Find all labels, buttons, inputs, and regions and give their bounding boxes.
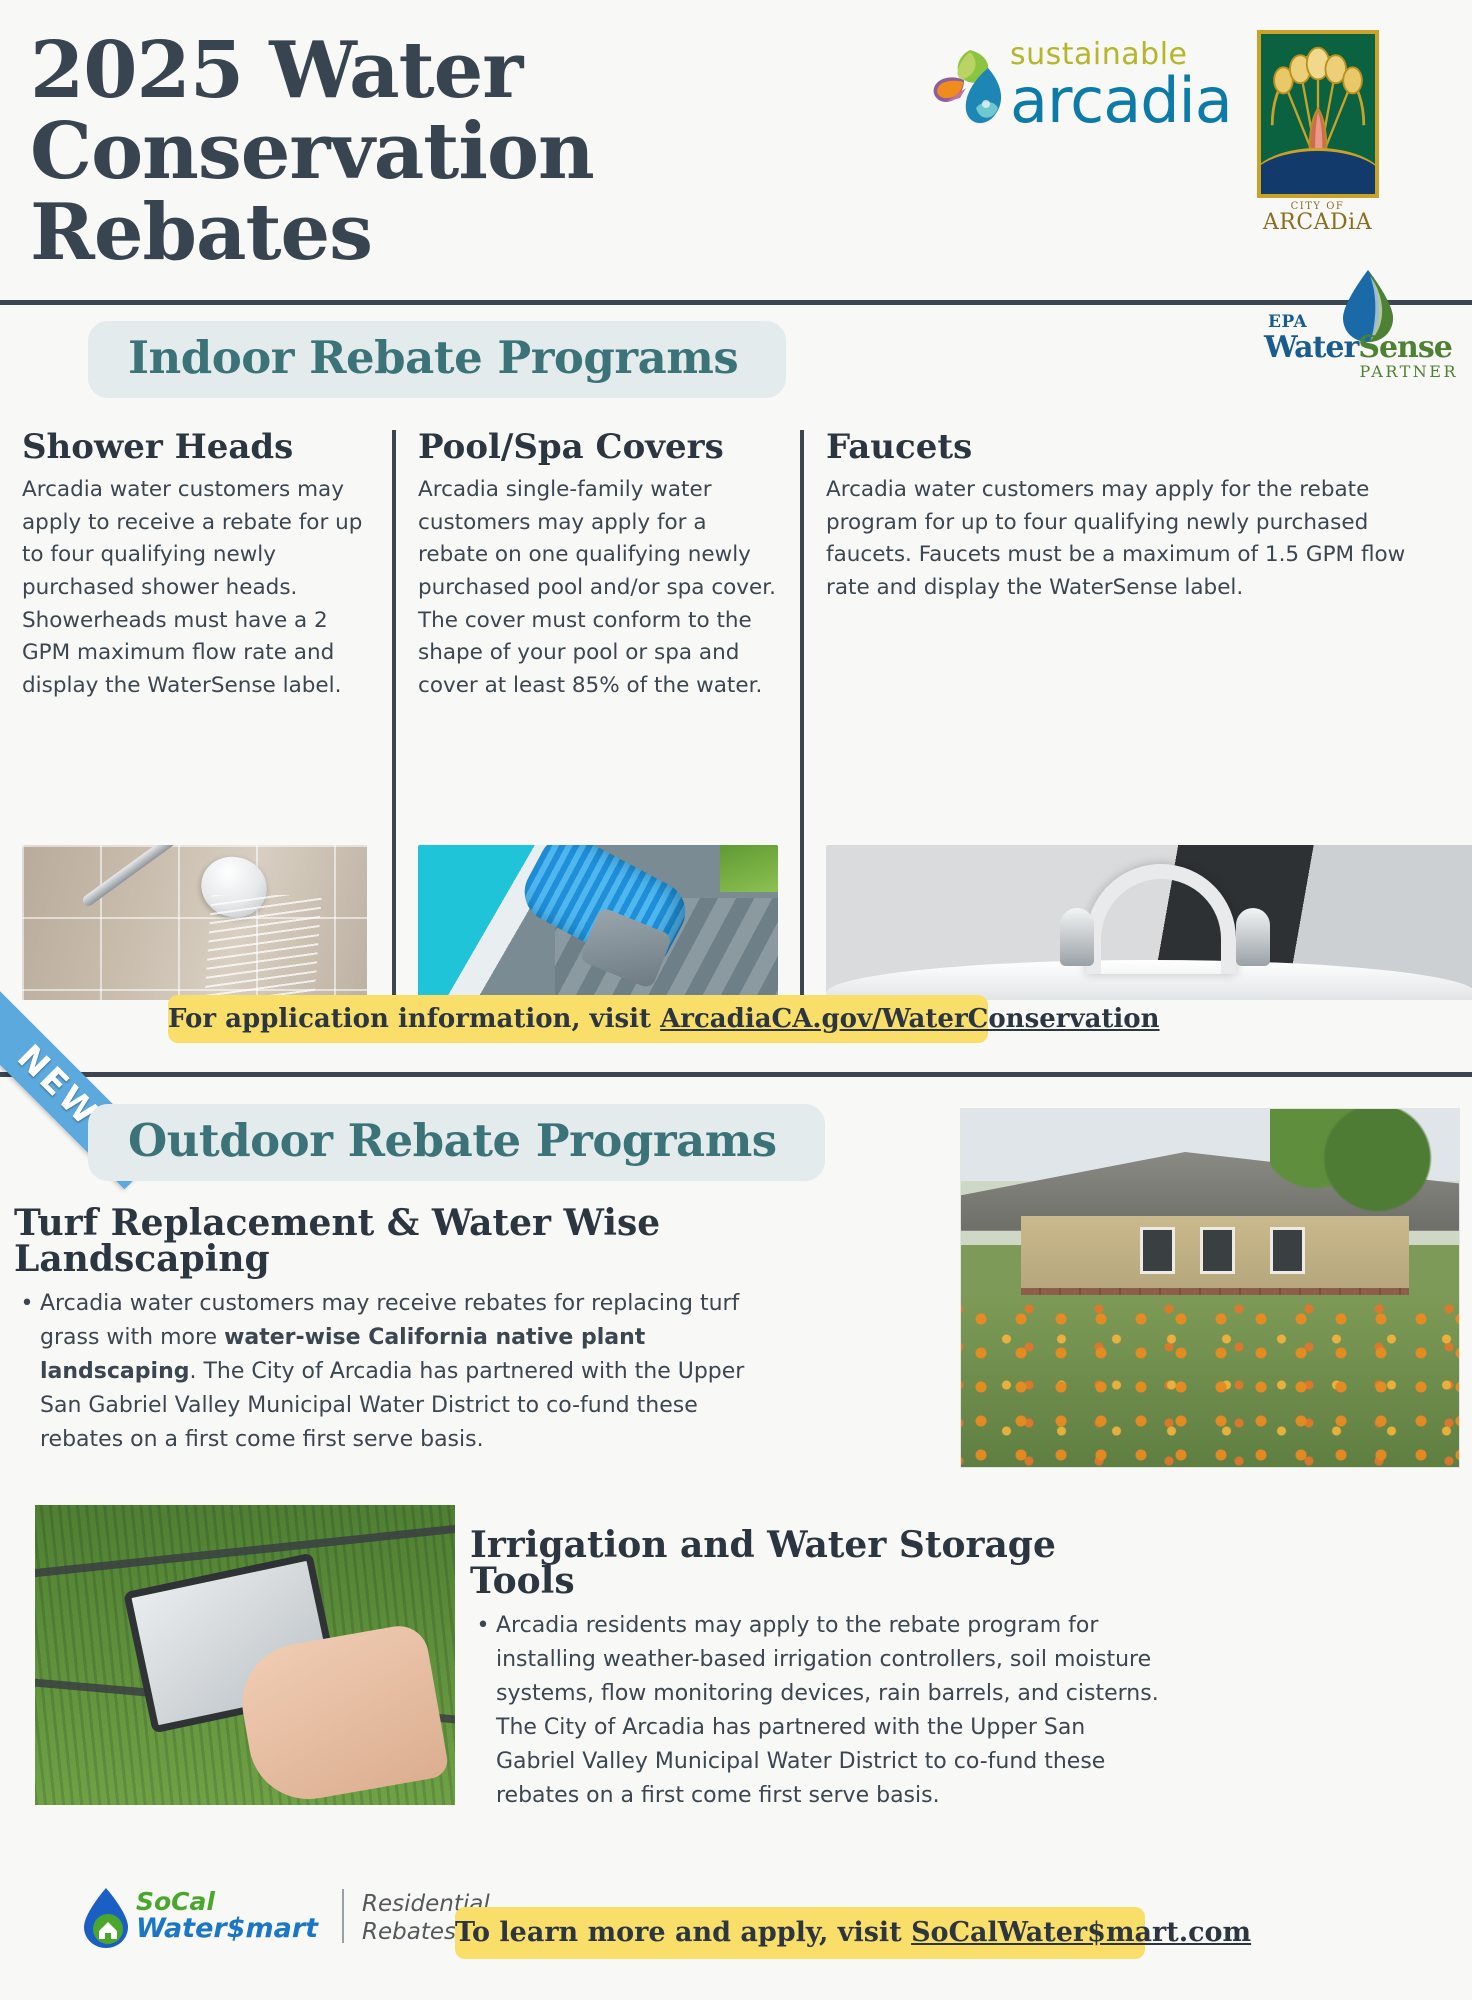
indoor-banner-link[interactable]: ArcadiaCA.gov/WaterConservation	[660, 1004, 1159, 1034]
sustainable-arcadia-wordmark: sustainable arcadia	[1010, 40, 1232, 131]
socal-watersmart-logo: SoCal Water$mart Residential Rebates	[80, 1885, 410, 1955]
socal-watersmart-drop-icon	[80, 1887, 132, 1949]
poster-header: 2025 Water Conservation Rebates sustaina…	[0, 0, 1472, 300]
outdoor-banner-link[interactable]: SoCalWater$mart.com	[911, 1917, 1251, 1948]
indoor-program-pool-spa-covers: Pool/Spa Covers Arcadia single-family wa…	[392, 430, 800, 1000]
faucets-heading: Faucets	[826, 430, 1450, 464]
turf-replacement-block: Turf Replacement & Water Wise Landscapin…	[14, 1205, 754, 1457]
page-title: 2025 Water Conservation Rebates	[30, 30, 930, 273]
section-divider	[0, 1072, 1472, 1077]
city-of-arcadia-seal: CITY OF ARCADiA	[1250, 30, 1385, 234]
indoor-programs-row: Shower Heads Arcadia water customers may…	[0, 430, 1472, 1000]
watersense-wordmark: WaterSense	[1264, 330, 1452, 365]
sustainable-arcadia-logo: sustainable arcadia	[930, 38, 1210, 148]
poster-page: 2025 Water Conservation Rebates sustaina…	[0, 0, 1472, 2000]
outdoor-section-pill: Outdoor Rebate Programs	[88, 1104, 825, 1181]
irrigation-storage-block: Irrigation and Water Storage Tools • Arc…	[470, 1527, 1170, 1814]
irrigation-storage-bullet: • Arcadia residents may apply to the reb…	[470, 1609, 1170, 1814]
outdoor-application-banner[interactable]: To learn more and apply, visit SoCalWate…	[455, 1907, 1145, 1959]
pool-spa-covers-heading: Pool/Spa Covers	[418, 430, 778, 464]
indoor-program-shower-heads: Shower Heads Arcadia water customers may…	[0, 430, 392, 1000]
pool-spa-covers-body: Arcadia single-family water customers ma…	[418, 474, 778, 703]
watersense-partner-label: PARTNER	[1359, 362, 1458, 381]
turf-replacement-bullet: • Arcadia water customers may receive re…	[14, 1287, 754, 1457]
faucets-body: Arcadia water customers may apply for th…	[826, 474, 1450, 605]
bullet-dot-icon: •	[470, 1609, 496, 1814]
irrigation-tablet-photo	[35, 1505, 455, 1805]
rebates-word: Rebates	[362, 1919, 456, 1945]
socal-word: SoCal	[136, 1889, 318, 1915]
sustainable-arcadia-mark-icon	[930, 46, 1008, 138]
irrigation-storage-heading: Irrigation and Water Storage Tools	[470, 1527, 1170, 1599]
outdoor-banner-prefix: To learn more and apply, visit	[455, 1917, 911, 1948]
turf-replacement-heading: Turf Replacement & Water Wise Landscapin…	[14, 1205, 754, 1277]
shower-heads-body: Arcadia water customers may apply to rec…	[22, 474, 370, 703]
seal-arcadia-label: ARCADiA	[1250, 212, 1385, 234]
arcadia-word: arcadia	[1010, 72, 1232, 131]
indoor-application-banner[interactable]: For application information, visit Arcad…	[168, 995, 988, 1043]
socal-watersmart-wordmark: SoCal Water$mart	[136, 1889, 318, 1944]
indoor-program-faucets: Faucets Arcadia water customers may appl…	[800, 430, 1472, 1000]
title-line-2: Conservation Rebates	[30, 111, 930, 273]
header-divider	[0, 300, 1472, 305]
indoor-section-pill: Indoor Rebate Programs	[88, 321, 786, 398]
indoor-banner-prefix: For application information, visit	[168, 1004, 660, 1034]
shower-head-photo	[22, 845, 367, 1000]
epa-watersense-partner-logo: EPA WaterSense PARTNER	[1262, 268, 1462, 388]
native-landscaping-photo	[960, 1108, 1460, 1468]
seal-emblem-icon	[1257, 30, 1379, 198]
indoor-section-title: Indoor Rebate Programs	[128, 331, 738, 384]
outdoor-section-title: Outdoor Rebate Programs	[128, 1114, 777, 1167]
watersense-sense-word: Sense	[1358, 330, 1452, 365]
faucet-photo	[826, 845, 1472, 1000]
seal-water-band	[1257, 148, 1379, 194]
bullet-dot-icon: •	[14, 1287, 40, 1457]
watersense-water-word: Water	[1264, 330, 1358, 365]
shower-heads-heading: Shower Heads	[22, 430, 370, 464]
watersmart-word: Water$mart	[136, 1915, 318, 1943]
title-line-1: 2025 Water	[30, 30, 930, 111]
watersense-epa-label: EPA	[1268, 312, 1307, 332]
pool-cover-photo	[418, 845, 778, 1000]
turf-replacement-body: Arcadia water customers may receive reba…	[40, 1287, 754, 1457]
socal-divider	[342, 1889, 344, 1943]
irrigation-storage-body: Arcadia residents may apply to the rebat…	[496, 1609, 1170, 1814]
